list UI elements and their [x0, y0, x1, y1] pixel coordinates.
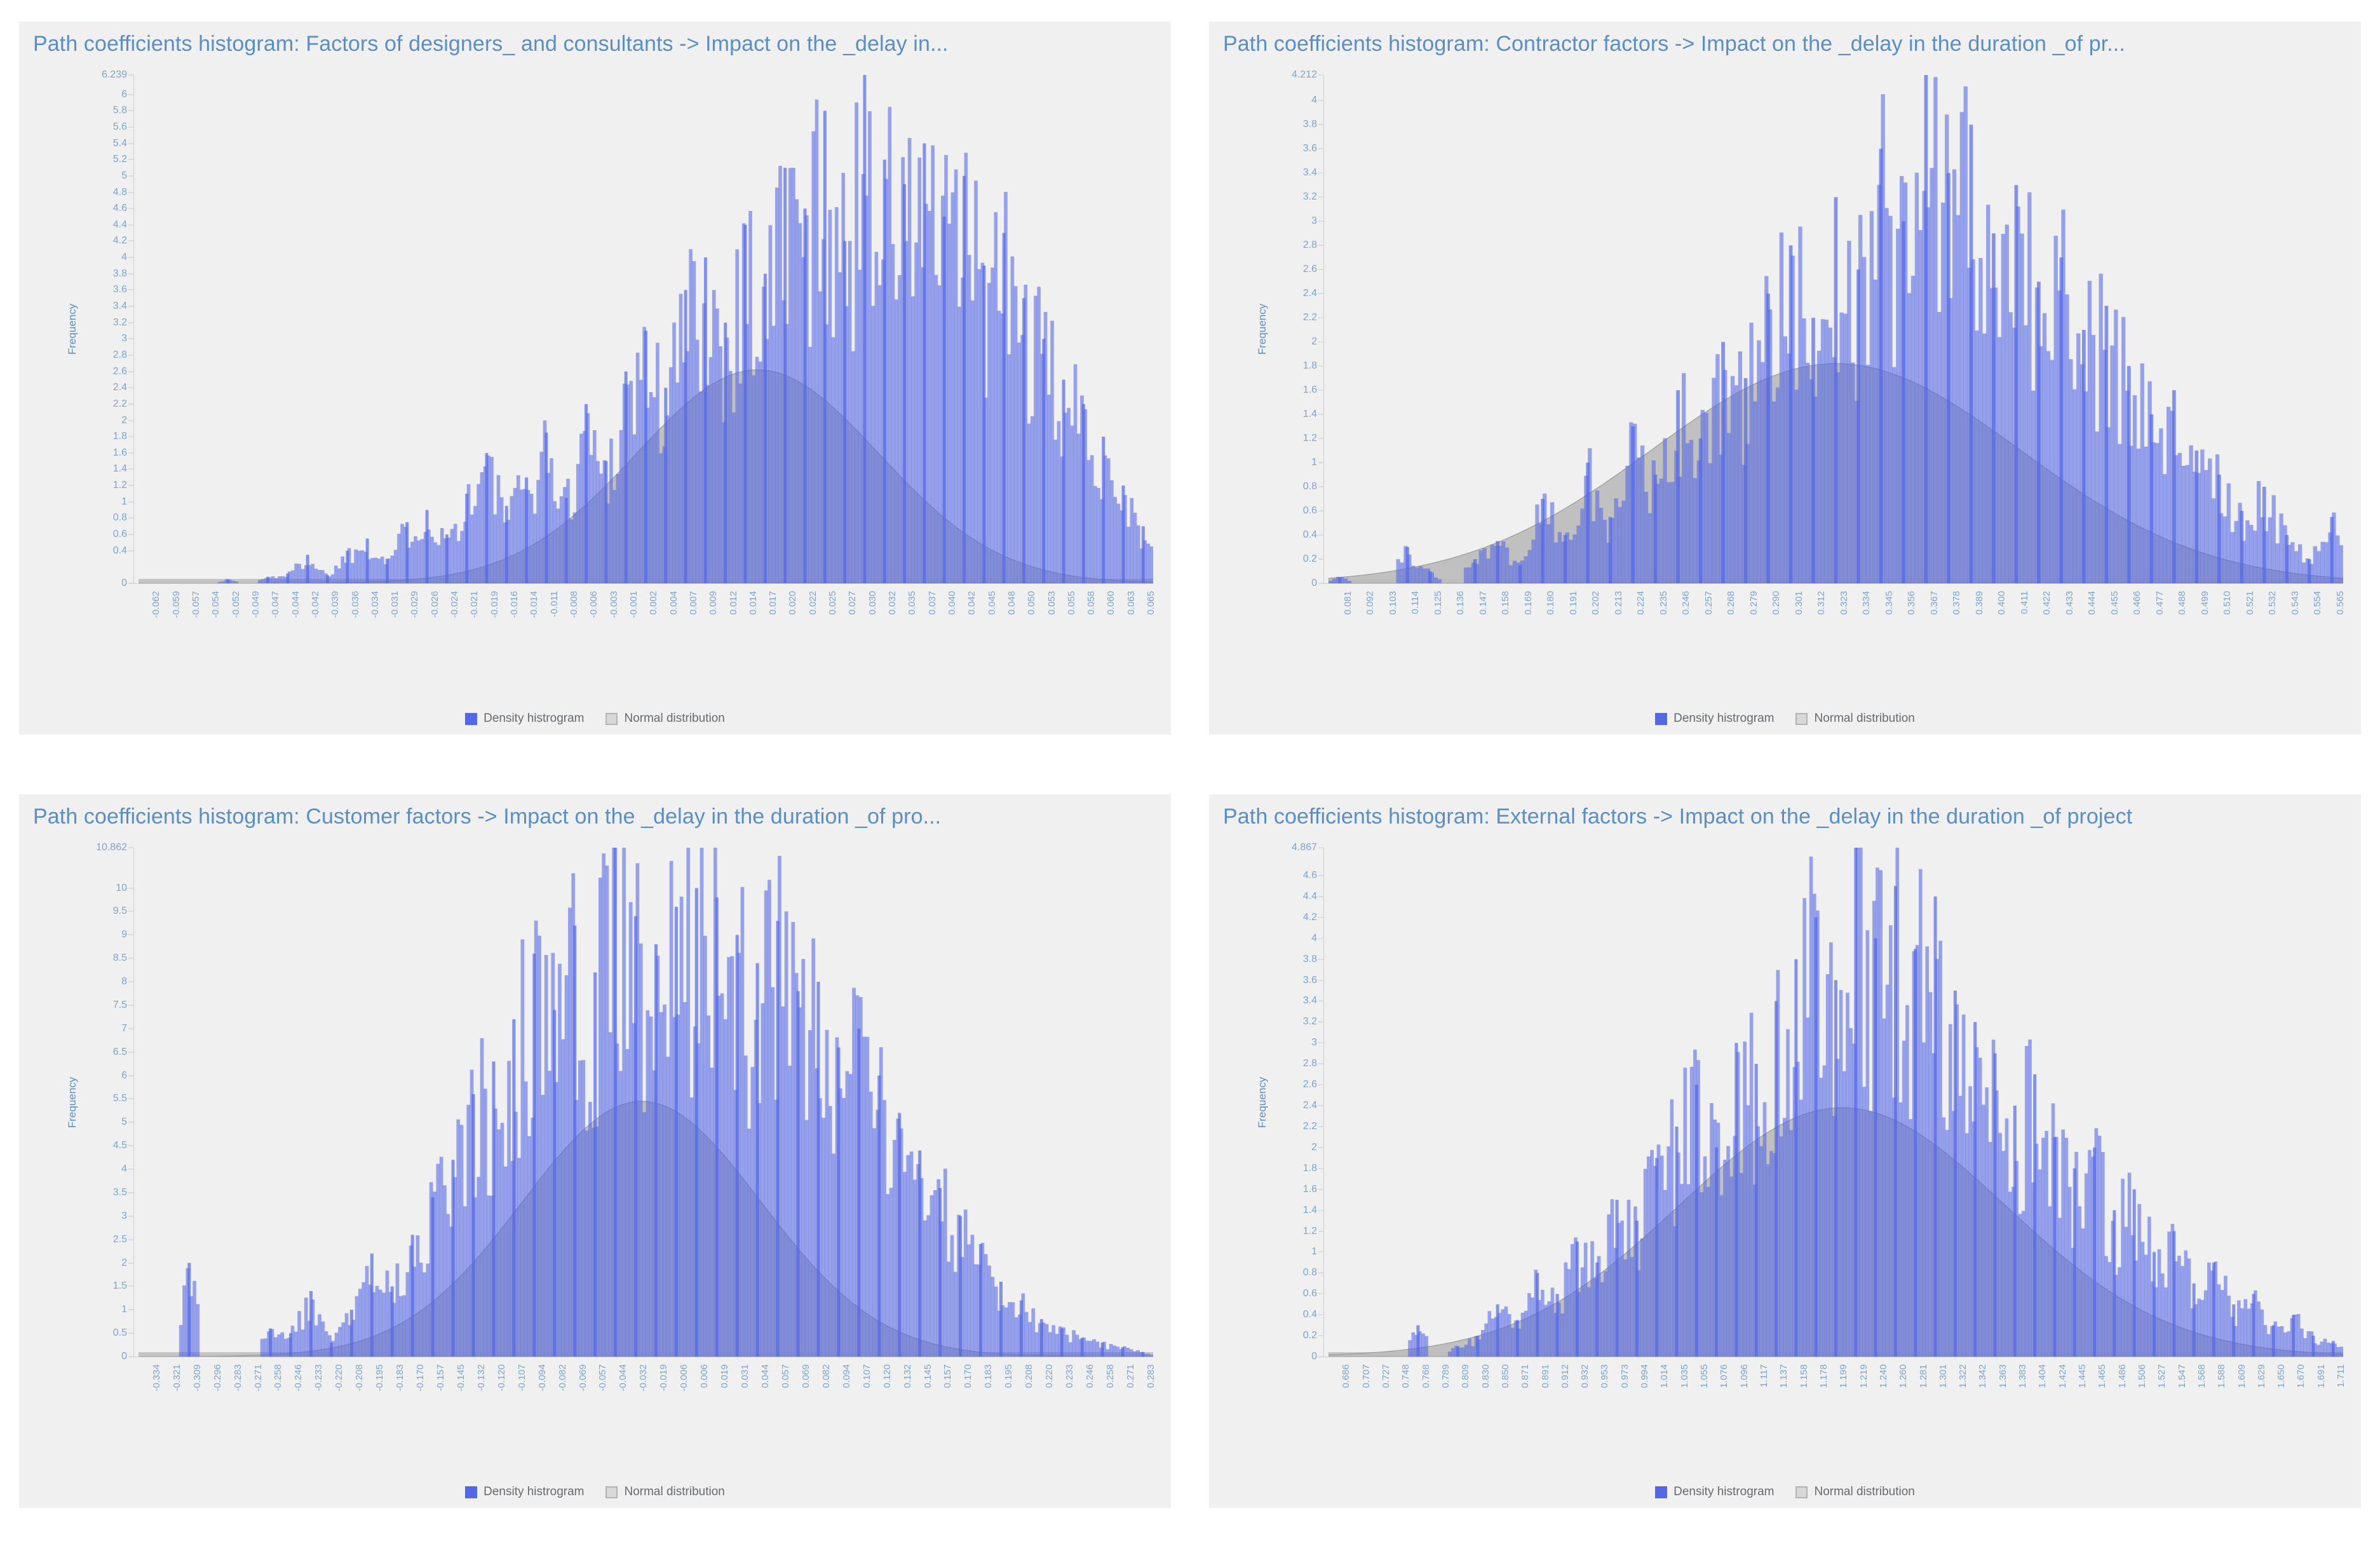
- x-axis-tick-label: -0.044: [290, 591, 301, 618]
- y-axis-tick-mark: [1318, 294, 1323, 294]
- x-axis-tick-label: -0.034: [370, 591, 381, 618]
- y-axis-tick-label: 3.8: [113, 268, 127, 280]
- x-axis-tick-label: -0.049: [250, 591, 261, 618]
- y-axis-tick-label: 2.8: [1303, 240, 1317, 251]
- y-axis-tick-label: 3.6: [1303, 975, 1317, 986]
- chart-panel-wrapper-2: Path coefficients histogram: Customer fa…: [0, 773, 1190, 1546]
- x-axis-tick-label: 0.233: [1064, 1364, 1075, 1388]
- x-axis-tick-label: 0.389: [1974, 591, 1985, 615]
- legend-label-normal: Normal distribution: [1814, 1485, 1914, 1499]
- x-axis-tick-label: 0.356: [1906, 591, 1917, 615]
- x-axis-tick-label: -0.036: [350, 591, 361, 618]
- x-axis-tick-label: 0.183: [983, 1364, 994, 1388]
- y-axis-tick-label: 4.5: [113, 1140, 127, 1151]
- x-axis-tick-label: 1.322: [1957, 1364, 1968, 1388]
- y-axis-tick-mark: [1318, 1189, 1323, 1190]
- x-axis-tick-label: -0.052: [231, 591, 241, 618]
- x-axis-tick-label: -0.195: [374, 1364, 385, 1392]
- y-axis-tick-label: 2.4: [113, 382, 127, 393]
- y-axis-tick-label: 2: [1311, 1142, 1317, 1153]
- y-axis-tick-mark: [128, 1239, 133, 1240]
- x-axis-tick-label: 0.433: [2064, 591, 2075, 615]
- y-axis-tick-label: 4.6: [1303, 870, 1317, 881]
- chart-panel-designers-consultants: Path coefficients histogram: Factors of …: [19, 22, 1171, 735]
- x-axis-tick-label: 0.686: [1341, 1364, 1351, 1388]
- x-axis-tick-label: 1.650: [2276, 1364, 2287, 1388]
- y-axis-ticks: 4.8674.64.44.243.83.63.43.232.82.62.42.2…: [1245, 836, 1323, 1508]
- legend-label-histogram: Density histrogram: [1673, 1485, 1774, 1499]
- x-axis-tick-label: 1.588: [2216, 1364, 2227, 1388]
- y-axis-tick-mark: [128, 1263, 133, 1263]
- y-axis-tick-mark: [128, 1146, 133, 1146]
- y-axis-tick-mark: [128, 452, 133, 453]
- x-axis-tick-label: 0.002: [648, 591, 659, 615]
- y-axis-tick-mark: [128, 403, 133, 404]
- x-axis-tick-label: 0.037: [927, 591, 938, 615]
- histogram-swatch-icon: [1655, 1486, 1667, 1498]
- y-axis-tick-mark: [1318, 1085, 1323, 1085]
- y-axis-tick-label: 1: [1311, 457, 1317, 468]
- normal-swatch-icon: [605, 1486, 618, 1498]
- x-axis-tick-label: 0.466: [2132, 591, 2142, 615]
- y-axis-tick-mark: [128, 1099, 133, 1099]
- x-axis-tick-label: -0.057: [191, 591, 201, 618]
- y-axis-line: [133, 75, 134, 583]
- x-axis-tick-label: 1.547: [2177, 1364, 2187, 1388]
- x-axis-tick-label: -0.006: [588, 591, 599, 618]
- y-axis-tick-mark: [128, 1357, 133, 1357]
- y-axis-tick-label: 10.862: [96, 842, 127, 853]
- y-axis-tick-label: 2.8: [113, 349, 127, 361]
- x-axis-tick-label: -0.208: [354, 1364, 365, 1392]
- x-axis-tick-label: -0.032: [638, 1364, 649, 1392]
- normal-swatch-icon: [1795, 1486, 1808, 1498]
- x-axis-tick-label: 0.809: [1460, 1364, 1471, 1388]
- y-axis-tick-label: 0.6: [113, 529, 127, 540]
- y-axis-tick-mark: [1318, 1210, 1323, 1210]
- legend-item-normal[interactable]: Normal distribution: [1795, 1485, 1914, 1499]
- x-axis-tick-label: 0.060: [1105, 591, 1116, 615]
- plot-area[interactable]: Frequency6.23965.85.65.45.254.84.64.44.2…: [19, 64, 1171, 735]
- x-axis-tick-label: 0.048: [1006, 591, 1017, 615]
- legend-label-normal: Normal distribution: [624, 1485, 724, 1499]
- x-axis-tick-label: 0.136: [1455, 591, 1466, 615]
- y-axis-tick-label: 4.867: [1292, 842, 1317, 853]
- y-axis-tick-label: 2: [1311, 336, 1317, 348]
- y-axis-tick-mark: [128, 143, 133, 144]
- x-axis-tick-label: 0.017: [767, 591, 778, 615]
- legend-label-normal: Normal distribution: [624, 712, 724, 726]
- x-axis-tick-label: -0.011: [549, 591, 560, 617]
- y-axis-tick-label: 5.2: [113, 154, 127, 165]
- chart-panel-wrapper-3: Path coefficients histogram: External fa…: [1190, 773, 2380, 1546]
- x-axis-tick-label: 1.342: [1977, 1364, 1988, 1388]
- y-axis-tick-mark: [1318, 487, 1323, 487]
- y-axis-tick-label: 3.6: [113, 284, 127, 295]
- x-axis-tick-label: 0.973: [1619, 1364, 1630, 1388]
- x-axis-tick-label: -0.014: [529, 591, 539, 618]
- y-axis-tick-mark: [128, 534, 133, 535]
- x-axis-tick-label: 0.334: [1861, 591, 1872, 615]
- y-axis-tick-mark: [128, 159, 133, 160]
- y-axis-tick-label: 0: [121, 1351, 127, 1362]
- y-axis-tick-label: 2.2: [1303, 1121, 1317, 1132]
- x-axis-tick-label: 1.055: [1699, 1364, 1710, 1388]
- x-axis-tick-label: 0.323: [1839, 591, 1849, 615]
- x-axis-tick-label: 0.147: [1478, 591, 1489, 615]
- x-axis-tick-label: 0.125: [1433, 591, 1444, 615]
- x-axis-tick-label: 0.932: [1579, 1364, 1590, 1388]
- x-axis-tick-label: 0.009: [708, 591, 719, 615]
- legend-item-histogram[interactable]: Density histrogram: [465, 712, 584, 726]
- x-axis-tick-label: -0.054: [210, 591, 221, 618]
- y-axis-tick-mark: [1318, 149, 1323, 149]
- y-axis-tick-label: 1.6: [113, 447, 127, 459]
- x-axis-tick-label: 0.565: [2335, 591, 2346, 615]
- x-axis-tick-label: 0.169: [1523, 591, 1534, 615]
- x-axis-tick-label: 1.158: [1799, 1364, 1809, 1388]
- y-axis-tick-label: 2.5: [113, 1234, 127, 1245]
- y-axis-tick-label: 4.2: [113, 235, 127, 247]
- x-axis-tick-label: -0.029: [409, 591, 420, 618]
- y-axis-tick-mark: [1318, 938, 1323, 939]
- y-axis-tick-mark: [128, 911, 133, 912]
- x-axis-tick-label: 0.543: [2290, 591, 2301, 615]
- y-axis-tick-mark: [1318, 390, 1323, 391]
- y-axis-tick-mark: [128, 1192, 133, 1193]
- y-axis-tick-label: 0.4: [113, 545, 127, 557]
- chart-legend: Density histrogram Normal distribution: [19, 1485, 1171, 1499]
- y-axis-tick-mark: [128, 1169, 133, 1170]
- y-axis-tick-mark: [1318, 980, 1323, 980]
- x-axis-tick-label: 0.455: [2109, 591, 2120, 615]
- x-axis-tick-label: 1.199: [1838, 1364, 1849, 1388]
- x-axis-tick-label: -0.094: [537, 1364, 548, 1392]
- x-axis-tick-label: -0.006: [679, 1364, 689, 1392]
- y-axis-tick-mark: [128, 437, 133, 437]
- x-axis-tick-label: 0.132: [902, 1364, 913, 1388]
- x-axis-tick-label: -0.057: [597, 1364, 608, 1392]
- y-axis-tick-label: 2: [121, 1258, 127, 1269]
- x-axis-tick-label: 1.691: [2316, 1364, 2327, 1388]
- chart-title: Path coefficients histogram: External fa…: [1223, 804, 2132, 829]
- y-axis-tick-label: 3: [1311, 215, 1317, 227]
- x-axis-tick-label: 0.707: [1361, 1364, 1372, 1388]
- x-axis-tick-label: -0.107: [517, 1364, 527, 1392]
- legend-label-histogram: Density histrogram: [1673, 712, 1774, 726]
- x-axis-tick-label: 0.422: [2041, 591, 2052, 615]
- y-axis-tick-label: 1.2: [1303, 1226, 1317, 1237]
- x-axis-tick-label: -0.296: [212, 1364, 223, 1392]
- y-axis-tick-mark: [1318, 1357, 1323, 1357]
- x-axis-tick-label: 1.486: [2117, 1364, 2128, 1388]
- y-axis-tick-mark: [128, 1310, 133, 1310]
- x-axis-tick-label: 0.114: [1410, 591, 1421, 614]
- x-axis-tick-label: -0.183: [395, 1364, 405, 1392]
- y-axis-tick-label: 4: [121, 252, 127, 263]
- x-axis-tick-label: 0.031: [740, 1364, 750, 1388]
- y-axis-tick-mark: [1318, 1043, 1323, 1043]
- y-axis-tick-mark: [128, 1216, 133, 1216]
- x-axis-tick-label: 0.994: [1639, 1364, 1650, 1388]
- x-axis-tick-label: 1.404: [2037, 1364, 2048, 1388]
- x-axis-tick-label: 0.045: [987, 591, 997, 615]
- y-axis-tick-label: 3: [121, 1210, 127, 1222]
- x-axis-tick-label: 0.290: [1771, 591, 1782, 615]
- x-axis-tick-label: 0.069: [801, 1364, 811, 1388]
- plot-area[interactable]: Frequency4.21243.83.63.43.232.82.62.42.2…: [1209, 64, 2361, 735]
- x-axis-tick-label: -0.145: [456, 1364, 466, 1392]
- x-axis-tick-label: -0.220: [334, 1364, 344, 1392]
- y-axis-tick-mark: [1318, 583, 1323, 584]
- y-axis-tick-label: 1.4: [1303, 409, 1317, 420]
- plot-area[interactable]: Frequency4.8674.64.44.243.83.63.43.232.8…: [1209, 836, 2361, 1508]
- x-axis-tick-label: 0.055: [1066, 591, 1077, 615]
- y-axis-tick-label: 0.2: [1303, 553, 1317, 565]
- x-axis-tick-label: 0.246: [1680, 591, 1691, 615]
- x-axis-tick-label: 0.120: [882, 1364, 893, 1388]
- y-axis-tick-label: 4.212: [1292, 69, 1317, 81]
- legend-item-normal[interactable]: Normal distribution: [605, 1485, 724, 1499]
- y-axis-tick-label: 0.4: [1303, 529, 1317, 541]
- x-axis-tick-label: -0.132: [476, 1364, 487, 1392]
- y-axis-tick-label: 2: [121, 415, 127, 426]
- x-axis-tick-label: 0.157: [942, 1364, 953, 1388]
- x-axis-tick-label: 0.246: [1085, 1364, 1095, 1388]
- x-axis-tick-label: 0.019: [719, 1364, 730, 1388]
- y-axis-tick-mark: [128, 935, 133, 935]
- y-axis-line: [1323, 848, 1324, 1357]
- y-axis-tick-label: 0.5: [113, 1327, 127, 1339]
- y-axis-tick-mark: [128, 339, 133, 339]
- x-axis-tick-label: 0.477: [2154, 591, 2165, 615]
- x-axis-tick-label: 1.527: [2156, 1364, 2167, 1388]
- x-axis-tick-label: 1.035: [1679, 1364, 1690, 1388]
- x-axis-tick-label: 0.042: [966, 591, 977, 615]
- x-axis-tick-label: 0.057: [780, 1364, 791, 1388]
- plot-area[interactable]: Frequency10.862109.598.587.576.565.554.5…: [19, 836, 1171, 1508]
- legend-item-histogram[interactable]: Density histrogram: [465, 1485, 584, 1499]
- y-axis-tick-label: 2.4: [1303, 288, 1317, 299]
- x-axis-tick-label: -0.062: [151, 591, 161, 618]
- x-axis-tick-label: 0.107: [862, 1364, 872, 1388]
- x-axis-tick-label: 1.240: [1878, 1364, 1889, 1388]
- x-axis-tick-label: -0.283: [233, 1364, 243, 1392]
- y-axis-tick-label: 5.6: [113, 121, 127, 133]
- y-axis-tick-mark: [1318, 125, 1323, 125]
- y-axis-line: [1323, 75, 1324, 583]
- x-axis-tick-label: 0.053: [1046, 591, 1057, 615]
- y-axis-tick-mark: [1318, 100, 1323, 101]
- y-axis-tick-mark: [1318, 366, 1323, 367]
- y-axis-tick-label: 0: [1311, 578, 1317, 589]
- x-axis-tick-label: -0.021: [469, 591, 480, 618]
- y-axis-tick-label: 1.2: [1303, 433, 1317, 444]
- x-axis-tick-label: 0.301: [1794, 591, 1804, 615]
- y-axis-tick-mark: [1318, 1273, 1323, 1273]
- x-axis-tick-label: 0.912: [1560, 1364, 1571, 1388]
- y-axis-tick-label: 9.5: [113, 905, 127, 917]
- y-axis-tick-mark: [128, 1333, 133, 1334]
- chart-panel-wrapper-0: Path coefficients histogram: Factors of …: [0, 0, 1190, 773]
- y-axis-tick-mark: [128, 501, 133, 502]
- x-axis-tick-label: -0.026: [429, 591, 440, 618]
- x-axis-tick-label: 0.554: [2312, 591, 2323, 615]
- y-axis-tick-mark: [128, 306, 133, 307]
- y-axis-tick-mark: [128, 982, 133, 982]
- y-axis-tick-mark: [1318, 318, 1323, 318]
- x-axis-tick-label: 0.271: [1125, 1364, 1136, 1388]
- chart-title: Path coefficients histogram: Factors of …: [33, 32, 949, 57]
- y-axis-tick-mark: [128, 94, 133, 95]
- x-axis-tick-label: 0.727: [1381, 1364, 1391, 1388]
- x-axis-tick-label: 0.378: [1951, 591, 1962, 615]
- x-axis-tick-label: 0.158: [1500, 591, 1511, 615]
- y-axis-tick-label: 1.8: [113, 431, 127, 442]
- y-axis-tick-mark: [1318, 245, 1323, 246]
- x-axis-tick-label: 0.532: [2267, 591, 2278, 615]
- x-axis-tick-label: 0.027: [847, 591, 858, 615]
- y-axis-tick-label: 7.5: [113, 1000, 127, 1011]
- chart-panel-customer-factors: Path coefficients histogram: Customer fa…: [19, 794, 1171, 1508]
- y-axis-tick-label: 5.5: [113, 1093, 127, 1104]
- chart-legend: Density histrogram Normal distribution: [19, 712, 1171, 726]
- y-axis-tick-mark: [128, 848, 133, 848]
- x-axis-tick-label: -0.309: [192, 1364, 203, 1392]
- y-axis-tick-label: 4: [1311, 933, 1317, 944]
- x-axis-tick-label: 0.748: [1400, 1364, 1411, 1388]
- x-axis-tick-label: 1.260: [1898, 1364, 1909, 1388]
- y-axis-tick-label: 0.8: [1303, 1267, 1317, 1278]
- legend-item-normal[interactable]: Normal distribution: [1795, 712, 1914, 726]
- y-axis-tick-mark: [1318, 959, 1323, 959]
- y-axis-tick-mark: [1318, 875, 1323, 876]
- y-axis-tick-label: 7: [121, 1023, 127, 1034]
- y-axis-tick-label: 2.2: [113, 398, 127, 410]
- y-axis-tick-label: 3: [121, 333, 127, 344]
- charts-grid: Path coefficients histogram: Factors of …: [0, 0, 2380, 1546]
- x-axis-tick-label: -0.157: [435, 1364, 446, 1392]
- x-axis-tick-label: 0.444: [2086, 591, 2097, 615]
- y-axis-tick-label: 2.2: [1303, 312, 1317, 323]
- chart-legend: Density histrogram Normal distribution: [1209, 712, 2361, 726]
- x-axis-tick-label: 0.032: [887, 591, 898, 615]
- x-axis-tick-label: 0.012: [728, 591, 739, 615]
- chart-panel-external-factors: Path coefficients histogram: External fa…: [1209, 794, 2361, 1508]
- x-axis-tick-label: 0.891: [1540, 1364, 1551, 1388]
- y-axis-tick-mark: [128, 1122, 133, 1123]
- y-axis-tick-mark: [128, 175, 133, 176]
- x-axis-tick-label: -0.271: [253, 1364, 264, 1392]
- x-axis-tick-label: 0.014: [748, 591, 759, 615]
- y-axis-tick-label: 5.4: [113, 138, 127, 149]
- x-axis-tick-label: 0.268: [1726, 591, 1736, 615]
- x-axis-tick-label: 0.082: [821, 1364, 832, 1388]
- y-axis-tick-label: 3.4: [1303, 995, 1317, 1007]
- y-axis-tick-mark: [128, 273, 133, 274]
- y-axis-tick-mark: [128, 1075, 133, 1076]
- x-axis-tick-label: 0.367: [1929, 591, 1940, 615]
- legend-item-histogram[interactable]: Density histrogram: [1655, 1485, 1774, 1499]
- x-axis-tick-label: -0.001: [628, 591, 639, 618]
- x-axis-tick-label: -0.019: [489, 591, 500, 618]
- y-axis-tick-mark: [1318, 535, 1323, 536]
- x-axis-tick-label: 0.007: [688, 591, 699, 615]
- x-axis-tick-label: 0.953: [1599, 1364, 1610, 1388]
- y-axis-tick-label: 2.8: [1303, 1058, 1317, 1069]
- y-axis-tick-mark: [128, 355, 133, 355]
- x-axis-tick-label: 0.850: [1500, 1364, 1511, 1388]
- y-axis-tick-label: 10: [116, 883, 127, 894]
- y-axis-tick-label: 0.8: [1303, 481, 1317, 492]
- y-axis-tick-mark: [1318, 1336, 1323, 1336]
- y-axis-tick-mark: [128, 322, 133, 323]
- x-axis-tick-label: 1.711: [2336, 1364, 2346, 1387]
- normal-swatch-icon: [605, 713, 618, 725]
- x-axis-tick-label: 0.044: [760, 1364, 771, 1388]
- histogram-bars: [1329, 75, 2343, 583]
- x-axis-tick-label: 0.035: [907, 591, 917, 615]
- y-axis-tick-mark: [128, 1005, 133, 1005]
- y-axis-tick-label: 0: [1311, 1351, 1317, 1362]
- y-axis-tick-label: 4.6: [113, 203, 127, 214]
- x-axis-tick-label: 0.020: [787, 591, 798, 615]
- y-axis-tick-mark: [1318, 1231, 1323, 1231]
- histogram-plot: [1329, 848, 2343, 1357]
- y-axis-tick-mark: [128, 126, 133, 127]
- x-axis-tick-label: 0.213: [1613, 591, 1624, 615]
- y-axis-tick-label: 8.5: [113, 953, 127, 964]
- y-axis-ticks: 6.23965.85.65.45.254.84.64.44.243.83.63.…: [55, 64, 133, 735]
- x-axis-tick-label: 0.170: [963, 1364, 973, 1388]
- y-axis-tick-label: 6.239: [102, 69, 127, 81]
- x-axis-tick-label: -0.321: [172, 1364, 182, 1392]
- y-axis-tick-label: 1.6: [1303, 1184, 1317, 1195]
- x-axis-tick-label: 0.065: [1146, 591, 1156, 615]
- x-axis-tick-label: -0.082: [557, 1364, 568, 1392]
- x-axis-tick-label: -0.246: [293, 1364, 304, 1392]
- y-axis-tick-label: 2.6: [1303, 1079, 1317, 1090]
- x-axis-tick-label: -0.258: [273, 1364, 283, 1392]
- y-axis-tick-mark: [128, 388, 133, 388]
- x-axis-tick-label: 1.301: [1938, 1364, 1949, 1388]
- x-axis-tick-label: 1.568: [2196, 1364, 2207, 1388]
- x-axis-tick-label: 0.092: [1365, 591, 1376, 615]
- y-axis-tick-label: 3.2: [1303, 1016, 1317, 1027]
- histogram-swatch-icon: [1655, 713, 1667, 725]
- legend-item-histogram[interactable]: Density histrogram: [1655, 712, 1774, 726]
- y-axis-tick-label: 6: [121, 89, 127, 100]
- x-axis-tick-label: 0.103: [1388, 591, 1398, 615]
- x-axis-tick-label: 0.081: [1342, 591, 1353, 615]
- chart-legend: Density histrogram Normal distribution: [1209, 1485, 2361, 1499]
- legend-item-normal[interactable]: Normal distribution: [605, 712, 724, 726]
- histogram-plot: [139, 848, 1153, 1357]
- x-axis-tick-label: -0.008: [569, 591, 579, 618]
- y-axis-tick-label: 0.8: [113, 512, 127, 524]
- y-axis-tick-label: 3: [1311, 1037, 1317, 1048]
- y-axis-tick-mark: [128, 111, 133, 111]
- y-axis-tick-label: 3.6: [1303, 143, 1317, 154]
- x-axis-tick-label: 0.208: [1024, 1364, 1034, 1388]
- x-axis-tick-label: -0.031: [389, 591, 400, 618]
- x-axis-tick-label: 1.076: [1719, 1364, 1729, 1388]
- y-axis-tick-mark: [1318, 896, 1323, 897]
- x-axis-tick-label: -0.003: [609, 591, 619, 618]
- y-axis-tick-mark: [128, 888, 133, 888]
- x-axis-tick-label: 0.202: [1590, 591, 1601, 615]
- histogram-plot: [139, 75, 1153, 583]
